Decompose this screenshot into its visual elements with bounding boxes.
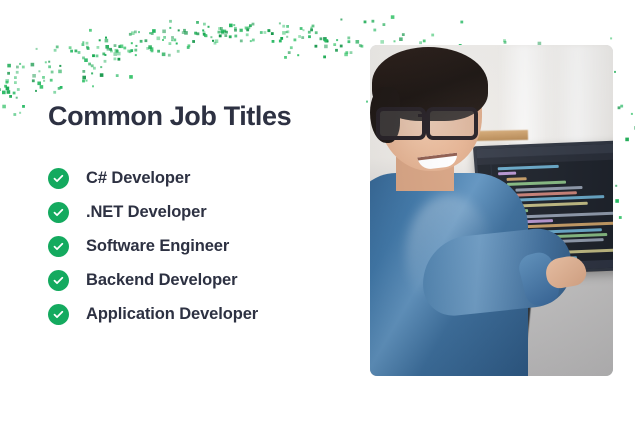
check-circle-icon bbox=[48, 270, 69, 291]
check-circle-icon bbox=[48, 202, 69, 223]
list-item: C# Developer bbox=[48, 162, 348, 196]
list-item-label: Software Engineer bbox=[86, 237, 229, 256]
list-item: Software Engineer bbox=[48, 230, 348, 264]
developer-at-desk-photo bbox=[370, 45, 613, 376]
photo-vignette bbox=[370, 45, 613, 376]
list-item-label: Backend Developer bbox=[86, 271, 237, 290]
list-item: Application Developer bbox=[48, 298, 348, 332]
text-column: Common Job Titles C# Developer .NET Deve… bbox=[48, 102, 348, 332]
list-item-label: .NET Developer bbox=[86, 203, 207, 222]
photo-scene bbox=[370, 45, 613, 376]
slide-canvas: Common Job Titles C# Developer .NET Deve… bbox=[0, 0, 635, 423]
page-title: Common Job Titles bbox=[48, 102, 348, 132]
check-circle-icon bbox=[48, 304, 69, 325]
job-titles-list: C# Developer .NET Developer Software Eng… bbox=[48, 162, 348, 332]
list-item-label: Application Developer bbox=[86, 305, 258, 324]
check-circle-icon bbox=[48, 236, 69, 257]
list-item: Backend Developer bbox=[48, 264, 348, 298]
list-item-label: C# Developer bbox=[86, 169, 190, 188]
list-item: .NET Developer bbox=[48, 196, 348, 230]
check-circle-icon bbox=[48, 168, 69, 189]
